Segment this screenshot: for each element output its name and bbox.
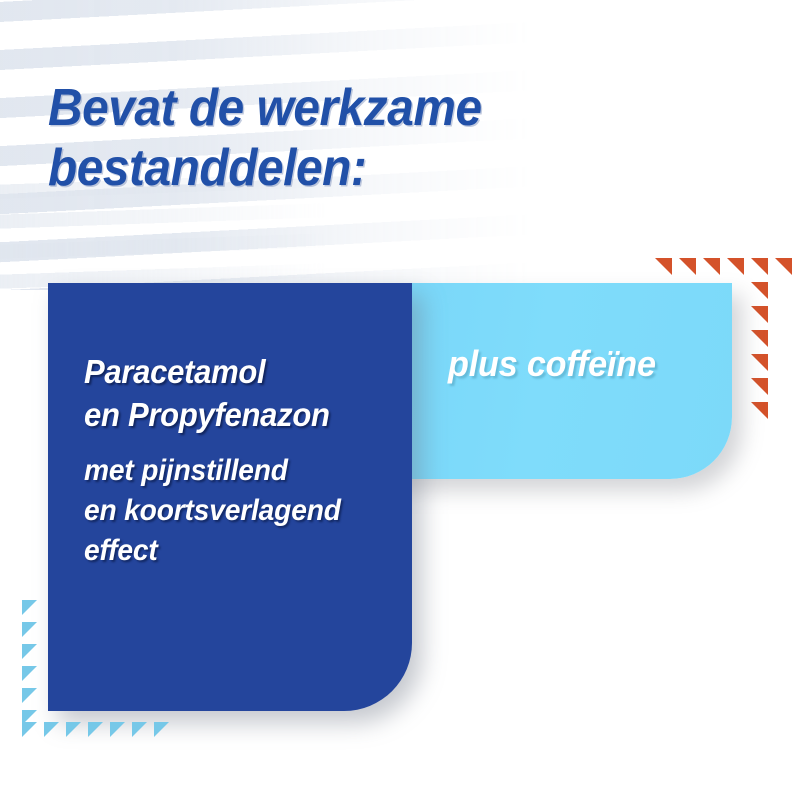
decor-triangle [132,722,147,737]
ingredients-panel: Paracetamol en Propyfenazon met pijnstil… [48,283,412,711]
page-title: Bevat de werkzame bestanddelen: [48,78,618,199]
decor-triangle [110,722,125,737]
decor-triangle [154,722,169,737]
poster-canvas: Bevat de werkzame bestanddelen: plus cof… [0,0,800,800]
effect-description: met pijnstillend en koortsverlagend effe… [84,451,383,572]
decor-triangle [751,258,768,275]
decor-triangle [22,666,37,681]
decor-triangle [66,722,81,737]
bottom-left-triangles-horizontal [22,722,192,744]
decor-triangle [775,258,792,275]
decor-triangle [751,378,768,395]
decor-triangle [88,722,103,737]
decor-triangle [22,688,37,703]
decor-triangle [22,622,37,637]
top-right-triangles-horizontal [655,258,795,282]
decor-triangle [679,258,696,275]
decor-triangle [655,258,672,275]
bottom-left-triangles-vertical [22,600,44,740]
decor-triangle [751,354,768,371]
decor-triangle [751,330,768,347]
decor-triangle [751,282,768,299]
decor-triangle [44,722,59,737]
decor-triangle [703,258,720,275]
decor-triangle [751,306,768,323]
decor-triangle [22,722,37,737]
decor-triangle [22,644,37,659]
decor-triangle [727,258,744,275]
decor-triangle [751,402,768,419]
caffeine-label: plus coffeïne [448,343,656,385]
ingredients-list: Paracetamol en Propyfenazon [84,351,383,437]
decor-triangle [22,710,37,725]
decor-triangle [22,600,37,615]
top-right-triangles-vertical [751,282,775,432]
ingredients-panel-content: Paracetamol en Propyfenazon met pijnstil… [84,351,402,571]
